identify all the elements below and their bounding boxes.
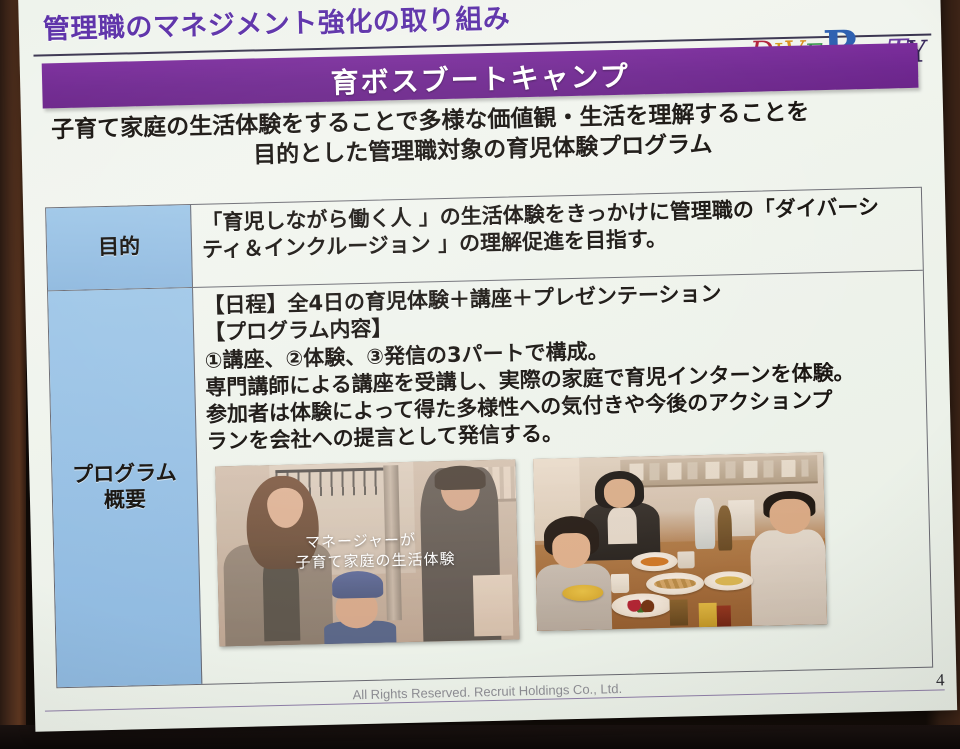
photo-a-caption: マネージャーが 子育て家庭の生活体験	[295, 529, 456, 573]
photo-family-dining	[533, 452, 827, 631]
slide-subtitle: 子育て家庭の生活体験をすることで多様な価値観・生活を理解することを 目的とした管…	[37, 95, 928, 177]
slide-title: 管理職のマネジメント強化の取り組み	[42, 0, 510, 46]
projected-slide-wrapper: 管理職のマネジメント強化の取り組み DIVERSITY 育ボスブートキャンプ 子…	[18, 0, 957, 738]
table-header-purpose: 目的	[46, 205, 193, 290]
table-cell-outline: 【日程】全4日の育児体験＋講座＋プレゼンテーション 【プログラム内容】 ①講座、…	[193, 271, 932, 684]
photo-family-outdoors: マネージャーが 子育て家庭の生活体験	[215, 459, 519, 646]
table-header-outline: プログラム 概要	[48, 288, 202, 687]
presentation-slide: 管理職のマネジメント強化の取り組み DIVERSITY 育ボスブートキャンプ 子…	[18, 0, 957, 732]
projection-room: 管理職のマネジメント強化の取り組み DIVERSITY 育ボスブートキャンプ 子…	[0, 0, 960, 749]
outline-header-line-2: 概要	[73, 486, 178, 514]
photo-b-color-tone	[533, 452, 827, 631]
photo-gallery: マネージャーが 子育て家庭の生活体験	[207, 450, 923, 647]
table-row-outline: プログラム 概要 【日程】全4日の育児体験＋講座＋プレゼンテーション 【プログラ…	[48, 271, 932, 688]
photo-a-caption-line-2: 子育て家庭の生活体験	[295, 549, 455, 573]
copyright-footer: All Rights Reserved. Recruit Holdings Co…	[352, 681, 622, 702]
table-cell-purpose: 「育児しながら働く人 」の生活体験をきっかけに管理職の「ダイバーシ ティ＆インク…	[191, 188, 923, 287]
outline-header-line-1: プログラム	[72, 461, 177, 489]
program-table: 目的 「育児しながら働く人 」の生活体験をきっかけに管理職の「ダイバーシ ティ＆…	[45, 187, 933, 689]
page-number: 4	[936, 670, 945, 690]
